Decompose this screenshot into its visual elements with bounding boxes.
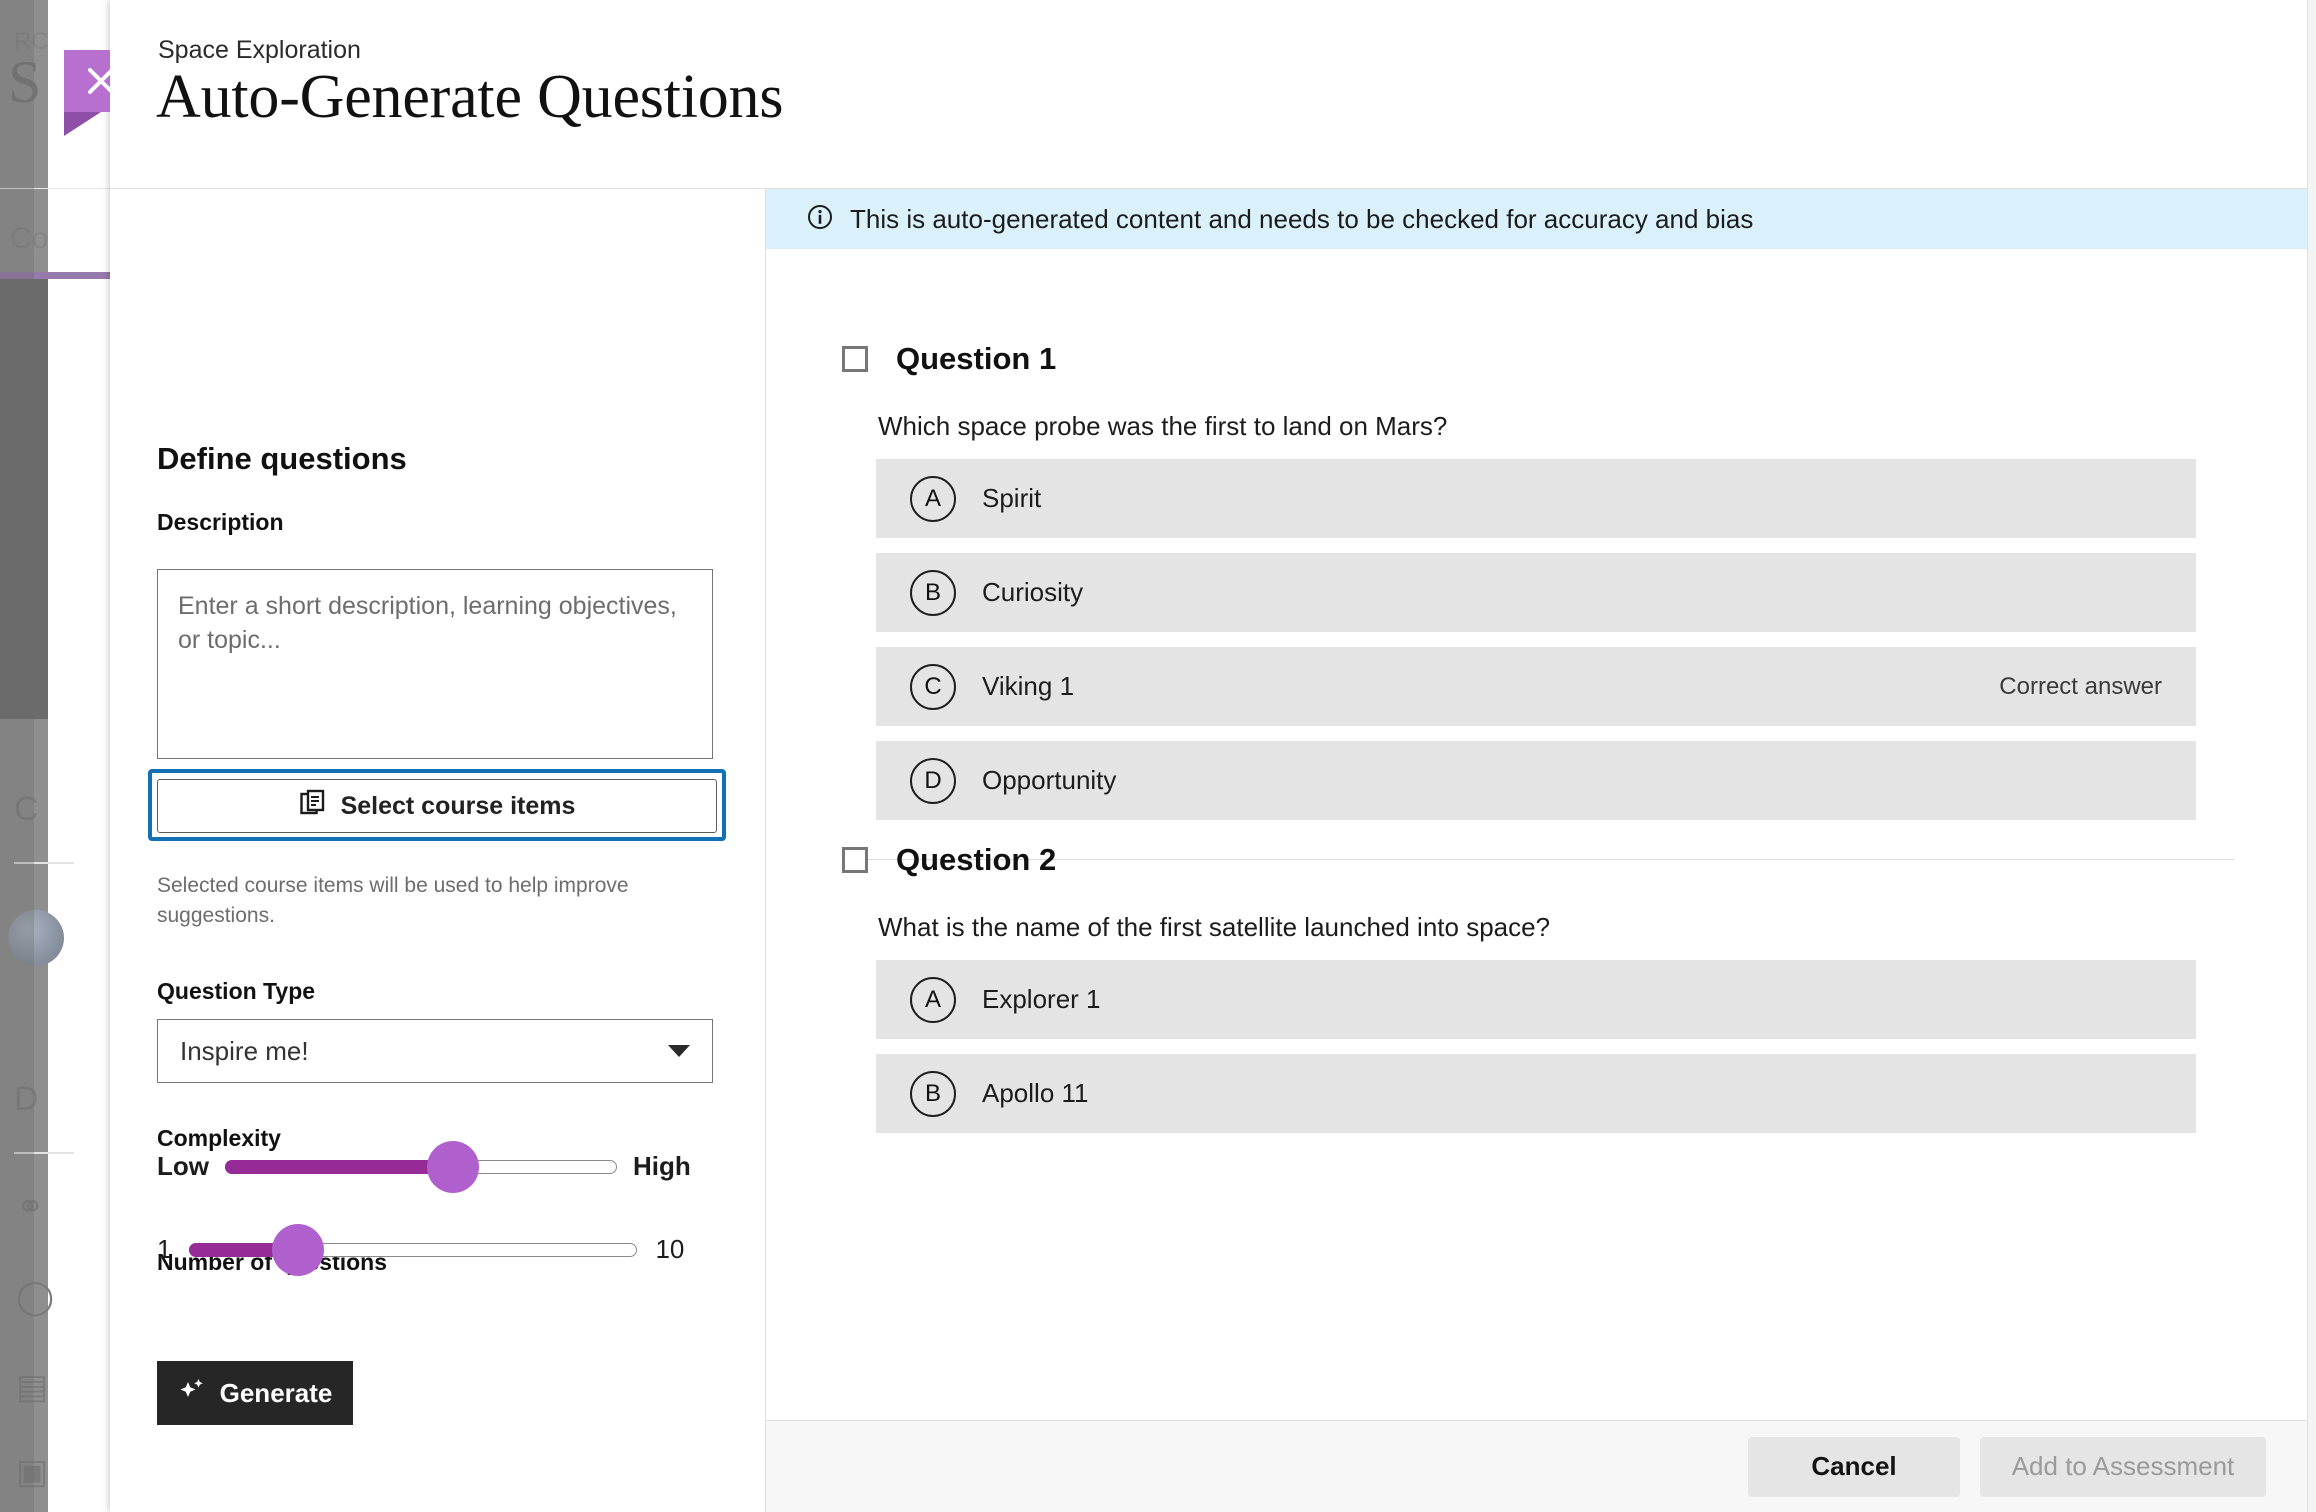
modal-scrollbar[interactable]: [2307, 0, 2316, 1512]
auto-generated-notice: This is auto-generated content and needs…: [766, 189, 2308, 249]
question-header: Question 1: [842, 341, 1056, 377]
complexity-slider-fill: [225, 1160, 452, 1174]
question-title: Question 2: [896, 842, 1056, 878]
option-text: Apollo 11: [982, 1078, 1089, 1109]
select-course-items-button[interactable]: Select course items: [157, 779, 717, 833]
option-letter: D: [910, 758, 956, 804]
question-title: Question 1: [896, 341, 1056, 377]
page-title: Auto-Generate Questions: [156, 66, 783, 128]
option-letter: B: [910, 570, 956, 616]
generate-button[interactable]: Generate: [157, 1361, 353, 1425]
auto-generated-notice-text: This is auto-generated content and needs…: [850, 204, 1753, 235]
num-questions-slider[interactable]: 1 10: [157, 1234, 684, 1265]
option-text: Spirit: [982, 483, 1041, 514]
generated-questions-panel: This is auto-generated content and needs…: [766, 189, 2308, 1512]
num-questions-min-label: 1: [157, 1234, 171, 1265]
auto-generate-questions-modal: Space Exploration Auto-Generate Question…: [110, 0, 2316, 1512]
answer-option[interactable]: BCuriosity: [876, 553, 2196, 632]
modal-header: Space Exploration Auto-Generate Question…: [110, 0, 2316, 188]
question-text: What is the name of the first satellite …: [878, 912, 1550, 943]
description-label: Description: [157, 509, 284, 536]
correct-answer-badge: Correct answer: [1999, 673, 2162, 701]
option-letter: C: [910, 664, 956, 710]
option-letter: B: [910, 1071, 956, 1117]
complexity-max-label: High: [633, 1151, 691, 1182]
num-questions-slider-track[interactable]: [189, 1243, 637, 1257]
define-questions-panel: Define questions Description Select cour…: [110, 189, 766, 1512]
complexity-label: Complexity: [157, 1125, 281, 1152]
complexity-slider[interactable]: Low High: [157, 1151, 691, 1182]
select-course-items-label: Select course items: [341, 792, 576, 821]
option-text: Curiosity: [982, 577, 1083, 608]
option-text: Viking 1: [982, 671, 1074, 702]
option-text: Opportunity: [982, 765, 1116, 796]
documents-icon: [299, 789, 327, 824]
answer-option[interactable]: ASpirit: [876, 459, 2196, 538]
question-text: Which space probe was the first to land …: [878, 411, 1447, 442]
info-icon: [806, 203, 834, 236]
question-type-select[interactable]: Inspire me!: [157, 1019, 713, 1083]
num-questions-slider-thumb[interactable]: [272, 1224, 324, 1276]
option-letter: A: [910, 476, 956, 522]
question-checkbox[interactable]: [842, 847, 868, 873]
answer-option[interactable]: DOpportunity: [876, 741, 2196, 820]
option-text: Explorer 1: [982, 984, 1101, 1015]
question-checkbox[interactable]: [842, 346, 868, 372]
question-type-value: Inspire me!: [180, 1036, 309, 1067]
modal-footer: Cancel Add to Assessment: [766, 1420, 2308, 1512]
define-questions-heading: Define questions: [157, 441, 407, 477]
sparkle-icon: [178, 1376, 206, 1411]
complexity-slider-track[interactable]: [225, 1160, 617, 1174]
num-questions-max-label: 10: [655, 1234, 684, 1265]
complexity-slider-thumb[interactable]: [427, 1141, 479, 1193]
complexity-min-label: Low: [157, 1151, 209, 1182]
breadcrumb: Space Exploration: [158, 36, 361, 65]
modal-scrim: [0, 0, 110, 1512]
answer-option[interactable]: CViking 1Correct answer: [876, 647, 2196, 726]
cancel-button[interactable]: Cancel: [1748, 1437, 1960, 1497]
add-to-assessment-button: Add to Assessment: [1980, 1437, 2266, 1497]
description-input[interactable]: [157, 569, 713, 759]
generate-label: Generate: [220, 1378, 333, 1409]
chevron-down-icon: [668, 1045, 690, 1057]
question-header: Question 2: [842, 842, 1056, 878]
select-course-items-help: Selected course items will be used to he…: [157, 871, 697, 931]
option-letter: A: [910, 977, 956, 1023]
answer-option[interactable]: AExplorer 1: [876, 960, 2196, 1039]
question-type-label: Question Type: [157, 978, 315, 1005]
answer-option[interactable]: BApollo 11: [876, 1054, 2196, 1133]
